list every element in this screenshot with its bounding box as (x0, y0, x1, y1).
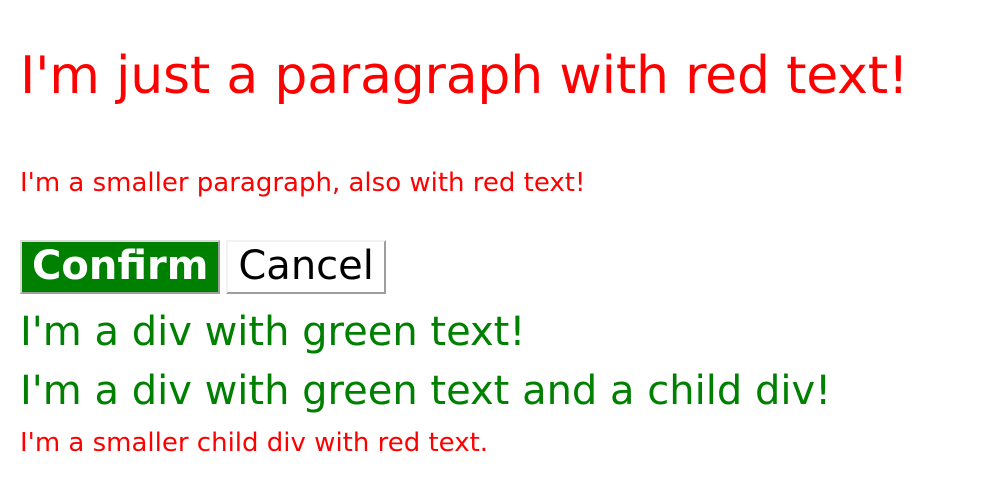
cancel-button[interactable]: Cancel (226, 240, 386, 294)
confirm-button[interactable]: Confirm (20, 240, 220, 294)
div-green-text: I'm a div with green text! (20, 312, 525, 352)
page-root: I'm just a paragraph with red text! I'm … (0, 0, 985, 498)
div-green-parent-label: I'm a div with green text and a child di… (20, 368, 831, 414)
paragraph-red-large: I'm just a paragraph with red text! (20, 50, 909, 102)
button-row: Confirm Cancel (20, 240, 386, 294)
paragraph-red-small: I'm a smaller paragraph, also with red t… (20, 170, 585, 196)
div-child-red-text: I'm a smaller child div with red text. (20, 430, 488, 456)
div-green-text-with-child: I'm a div with green text and a child di… (20, 371, 831, 411)
